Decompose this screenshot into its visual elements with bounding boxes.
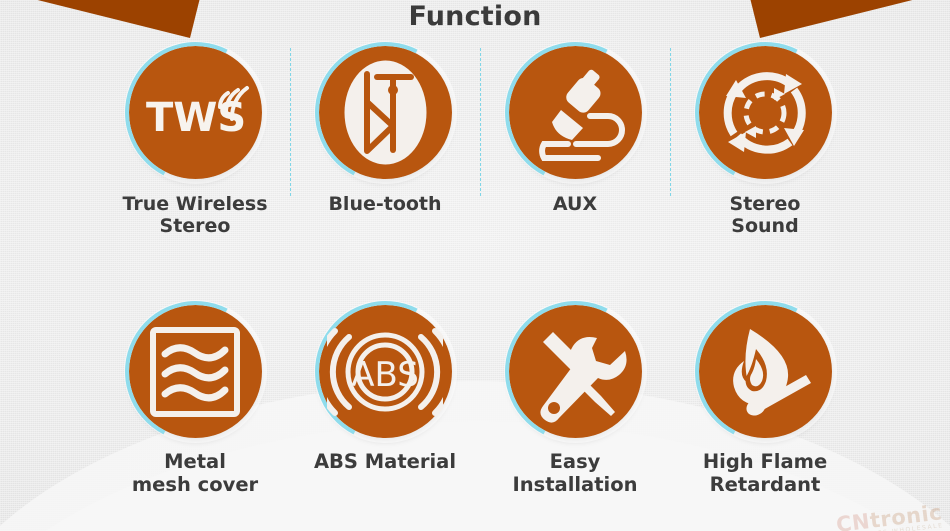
- surround-sound-arrows-icon: [699, 46, 832, 179]
- feature-icon-wrap: [699, 305, 832, 438]
- feature-icon-wrap: TWS: [129, 46, 262, 179]
- svg-text:ABS: ABS: [351, 355, 419, 395]
- feature-item-true-wireless-stereo[interactable]: TWS True Wireless Stereo: [100, 40, 290, 237]
- feature-item-stereo-sound[interactable]: Stereo Sound: [670, 40, 860, 237]
- feature-label: Blue-tooth: [285, 193, 485, 215]
- feature-label: ABS Material: [285, 450, 485, 473]
- audio-plug-cable-icon: [509, 46, 642, 179]
- feature-item-aux[interactable]: AUX: [480, 40, 670, 237]
- feature-icon-wrap: [699, 46, 832, 179]
- feature-label: Stereo Sound: [665, 193, 865, 237]
- feature-icon-wrap: [129, 305, 262, 438]
- feature-row-top: TWS True Wireless Stereo: [100, 40, 950, 237]
- burning-match-icon: [699, 305, 832, 438]
- mesh-grille-icon: [129, 305, 262, 438]
- page-title: Function: [0, 0, 950, 34]
- watermark-prefix: CN: [835, 509, 872, 531]
- feature-row-bottom: Metal mesh cover: [100, 299, 950, 496]
- bluetooth-icon: [319, 46, 452, 179]
- feature-icon-wrap: [319, 46, 452, 179]
- feature-label: AUX: [475, 193, 675, 215]
- feature-item-metal-mesh-cover[interactable]: Metal mesh cover: [100, 299, 290, 496]
- wrench-screwdriver-icon: [509, 305, 642, 438]
- feature-label: True Wireless Stereo: [95, 193, 295, 237]
- feature-item-abs-material[interactable]: ABS ABS Material: [290, 299, 480, 496]
- abs-speaker-icon: ABS: [319, 305, 452, 438]
- feature-item-easy-installation[interactable]: Easy Installation: [480, 299, 670, 496]
- feature-icon-wrap: [509, 46, 642, 179]
- function-features-slide: Function TWS: [0, 0, 950, 531]
- feature-label: Metal mesh cover: [95, 450, 295, 496]
- feature-item-bluetooth[interactable]: Blue-tooth: [290, 40, 480, 237]
- feature-item-high-flame-retardant[interactable]: High Flame Retardant: [670, 299, 860, 496]
- tws-wireless-icon: TWS: [129, 46, 262, 179]
- feature-icon-wrap: [509, 305, 642, 438]
- feature-label: High Flame Retardant: [665, 450, 865, 496]
- feature-grid: TWS True Wireless Stereo: [0, 40, 950, 496]
- feature-label: Easy Installation: [475, 450, 675, 496]
- feature-icon-wrap: ABS: [319, 305, 452, 438]
